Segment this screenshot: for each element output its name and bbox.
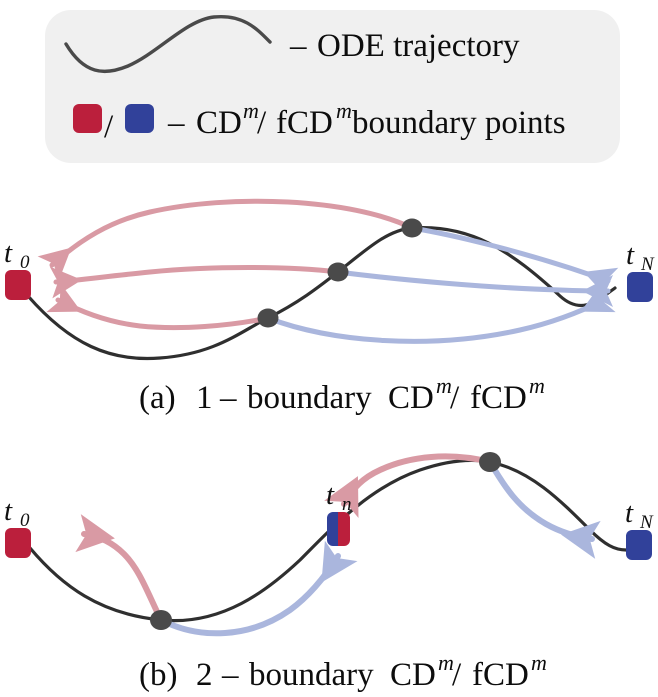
intermediate-point-a-2 <box>328 263 349 282</box>
red-arrow-a-2 <box>56 268 338 283</box>
legend-cd-label: CD <box>196 105 242 141</box>
blue-arrow-a-2 <box>338 272 608 291</box>
label-a-t0: t <box>4 237 13 269</box>
label-b-tn: t <box>326 479 335 511</box>
boundary-marker-b-t0 <box>5 528 31 558</box>
boundary-marker-b-tN <box>626 530 652 560</box>
red-arrow-a-3 <box>58 300 268 328</box>
figure-root: – ODE trajectory / – CD m / fCD m bounda… <box>0 0 658 697</box>
legend-parts-slash: / <box>257 105 267 141</box>
label-a-tN: t <box>626 239 635 271</box>
panel-b: t 0 t n t N (b) 2 – boundary CD m / fCD … <box>4 452 654 693</box>
legend-blue-square-icon <box>125 104 154 133</box>
label-b-t0: t <box>4 495 13 527</box>
boundary-marker-a-tN <box>627 272 653 302</box>
legend-boundary-points-label: boundary points <box>352 105 566 141</box>
intermediate-point-b-1 <box>150 610 172 630</box>
caption-a-index: (a) <box>139 380 176 416</box>
legend-square-separator: / <box>104 109 114 145</box>
caption-b: (b) 2 – boundary CD m / fCD m <box>139 650 547 693</box>
caption-b-cd: CD <box>390 657 436 693</box>
caption-a-fcd-superscript: m <box>529 373 545 398</box>
caption-a: (a) 1 – boundary CD m / fCD m <box>139 373 545 416</box>
label-b-tN: t <box>625 497 634 529</box>
blue-arrow-b-1 <box>161 556 338 633</box>
red-arrow-b-1 <box>344 456 490 504</box>
legend-row1-label: ODE trajectory <box>317 28 520 64</box>
caption-a-cd: CD <box>388 380 434 416</box>
legend-red-square-icon <box>73 104 102 133</box>
legend-row2-dash: – <box>167 105 185 141</box>
label-b-tn-sub: n <box>342 494 352 515</box>
ode-trajectory-a <box>28 228 615 359</box>
intermediate-point-a-3 <box>402 219 423 238</box>
panel-a: t 0 t N (a) 1 – boundary CD m / fCD m <box>4 201 655 416</box>
caption-a-count: 1 <box>196 380 213 416</box>
caption-b-count: 2 <box>196 657 213 693</box>
caption-b-fcd-superscript: m <box>531 650 547 675</box>
legend-row1-dash: – <box>289 28 307 64</box>
label-a-tN-sub: N <box>640 254 655 275</box>
label-b-tN-sub: N <box>639 512 654 533</box>
caption-a-fcd: fCD <box>470 380 527 416</box>
legend-fcd-superscript: m <box>336 98 352 123</box>
label-a-t0-sub: 0 <box>20 252 30 273</box>
caption-b-word: boundary <box>249 657 374 693</box>
caption-a-slash: / <box>450 380 460 416</box>
caption-b-index: (b) <box>139 657 177 693</box>
red-arrow-b-2 <box>84 534 161 620</box>
caption-b-slash: / <box>452 657 462 693</box>
boundary-marker-a-t0 <box>5 270 31 300</box>
caption-b-fcd: fCD <box>472 657 529 693</box>
label-b-t0-sub: 0 <box>20 510 30 531</box>
caption-a-word: boundary <box>247 380 372 416</box>
legend-fcd-label: fCD <box>276 105 333 141</box>
intermediate-point-b-2 <box>479 452 501 472</box>
intermediate-point-a-1 <box>258 309 279 328</box>
blue-arrow-a-3 <box>268 300 604 341</box>
caption-a-dash: – <box>219 380 237 416</box>
legend: – ODE trajectory / – CD m / fCD m bounda… <box>45 10 620 163</box>
boundary-marker-b-tn: t n <box>326 479 352 546</box>
blue-arrow-b-2 <box>490 462 592 539</box>
caption-b-dash: – <box>221 657 239 693</box>
